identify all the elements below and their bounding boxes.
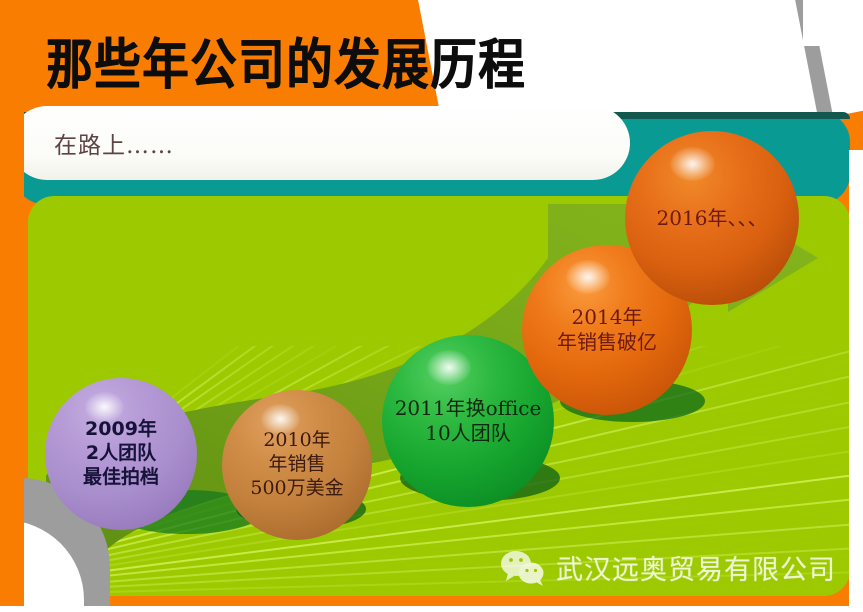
milestone-line: 2010年 <box>250 429 343 453</box>
sphere-highlight <box>670 147 715 182</box>
sphere-highlight <box>427 350 472 384</box>
milestone-line: 2011年换office <box>395 396 542 421</box>
bottom-white-border <box>0 606 863 612</box>
milestone-line: 年销售 <box>250 453 343 477</box>
milestone-2011-text: 2011年换office 10人团队 <box>395 396 542 446</box>
milestone-line: 2016年、、、 <box>657 206 768 231</box>
milestone-2016-text: 2016年、、、 <box>657 206 768 231</box>
milestone-2014-text: 2014年 年销售破亿 <box>557 305 657 355</box>
milestone-line: 年销售破亿 <box>557 330 657 355</box>
milestone-2009-text: 2009年 2人团队 最佳拍档 <box>83 418 159 489</box>
watermark: 武汉远奥贸易有限公司 <box>500 548 836 587</box>
milestone-line: 最佳拍档 <box>83 466 159 490</box>
milestone-line: 2人团队 <box>83 442 159 466</box>
subtitle-text: 在路上…… <box>54 126 174 160</box>
milestone-line: 10人团队 <box>395 421 542 446</box>
watermark-company: 武汉远奥贸易有限公司 <box>556 548 836 587</box>
milestone-line: 2009年 <box>83 418 159 442</box>
left-orange-border <box>0 0 24 612</box>
sphere-highlight <box>566 260 610 294</box>
milestone-sphere-2009[interactable]: 2009年 2人团队 最佳拍档 <box>45 378 197 530</box>
milestone-sphere-2010[interactable]: 2010年 年销售 500万美金 <box>222 390 372 540</box>
top-right-white-corner <box>803 0 863 46</box>
wechat-icon <box>500 550 546 586</box>
milestone-line: 2014年 <box>557 305 657 330</box>
page-title: 那些年公司的发展历程 <box>46 22 526 100</box>
milestone-line: 500万美金 <box>250 477 343 501</box>
milestone-sphere-2016[interactable]: 2016年、、、 <box>625 131 799 305</box>
right-white-border <box>849 150 863 612</box>
presentation-slide: 2016年、、、 2014年 年销售破亿 2011年换office 10人团队 … <box>0 0 863 612</box>
subtitle-card: 在路上…… <box>10 106 630 180</box>
milestone-2010-text: 2010年 年销售 500万美金 <box>250 429 343 500</box>
